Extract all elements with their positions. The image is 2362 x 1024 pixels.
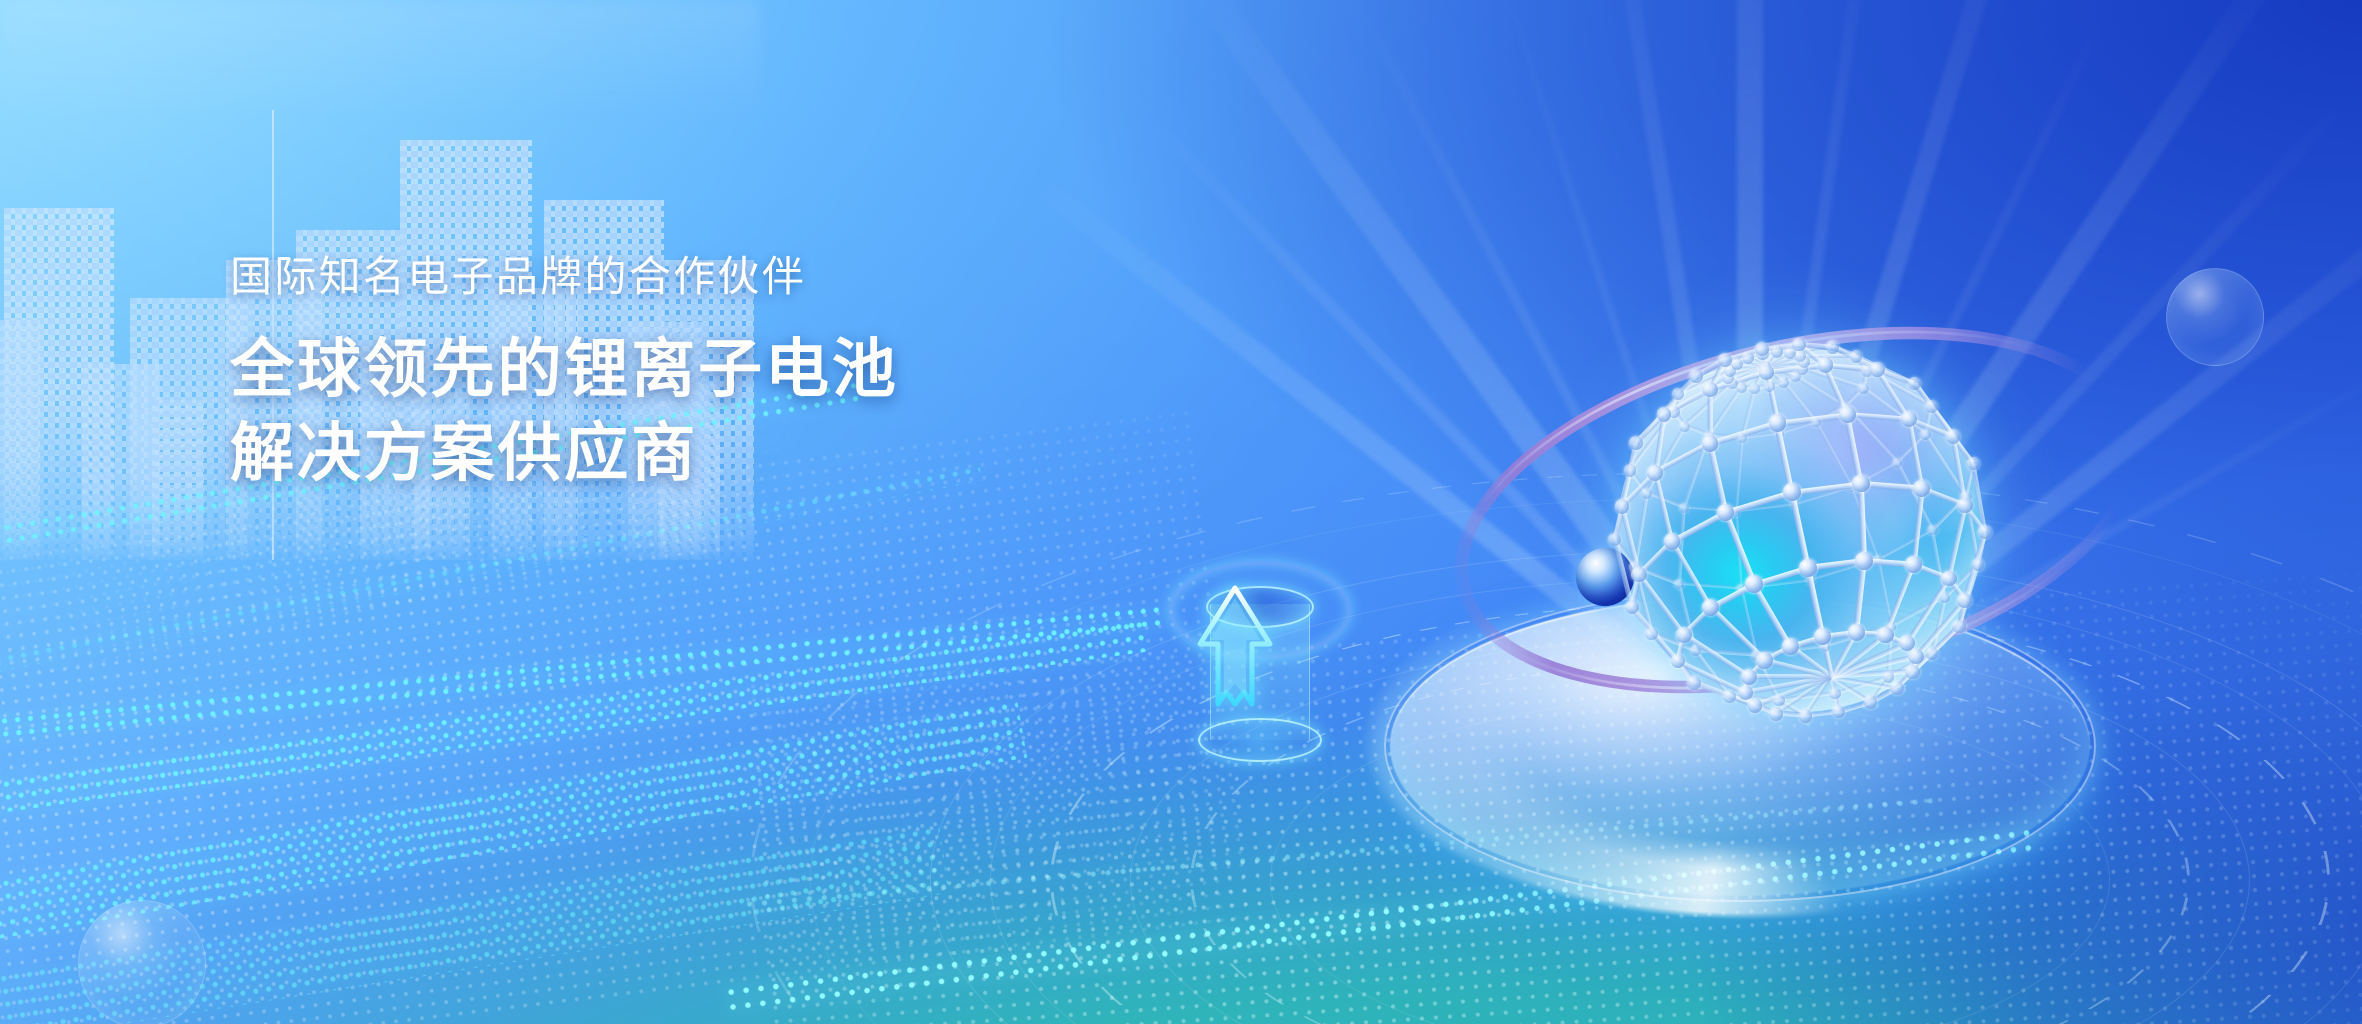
globe-strut [1890,595,1945,627]
globe-node [1840,402,1850,412]
globe-strut [1869,675,1890,702]
globe-strut [1693,681,1730,699]
globe-strut [1802,367,1864,390]
globe-strut [1800,361,1805,369]
globe-strut [1754,675,1832,708]
light-ray [1740,0,2031,743]
globe-strut [1963,504,1987,534]
globe-strut [1734,437,1743,511]
globe-strut [1855,354,1915,385]
globe-strut [1732,364,1767,385]
globe-strut [1765,360,1804,368]
globe-strut [1809,579,1826,646]
globe-strut [1725,490,1793,516]
globe-strut [1820,636,1833,677]
globe-node [1794,350,1806,362]
globe-node [1702,435,1719,452]
globe-strut [1637,540,1674,577]
globe-strut [1850,486,1880,559]
globe-node [1826,340,1839,353]
light-ray [1746,1,2114,742]
globe-node [1749,383,1760,394]
globe-node [1814,628,1831,645]
light-ray [1745,92,2355,745]
globe-node [1741,669,1757,685]
globe-strut [1677,369,1730,396]
globe-strut [1695,358,1726,378]
globe-strut [1793,503,1812,579]
globe-strut [1794,367,1804,377]
globe-strut [1825,363,1877,372]
globe-strut [1962,531,1987,600]
orbital-ring-band [1419,266,2178,755]
globe-node [1901,411,1917,427]
globe-strut [1951,435,1975,465]
globe-strut [1682,606,1713,637]
banner-headline: 全球领先的锂离子电池 解决方案供应商 [230,328,1150,494]
globe-node [1799,709,1812,722]
globe-core-sphere [1618,348,1982,712]
bubble-bottom-left [78,900,206,1024]
globe-strut [1682,633,1750,679]
globe-strut [1768,386,1781,434]
globe-strut [1943,563,1979,599]
globe-strut [1830,675,1872,704]
globe-strut [1833,693,1841,712]
globe-strut [1778,698,1807,717]
globe-strut [1613,538,1636,568]
globe-strut [1830,641,1907,679]
globe-strut [1653,414,1666,473]
globe-node [1657,407,1672,422]
globe-strut [1887,626,1893,677]
globe-node [1664,533,1681,550]
globe-strut [1765,364,1802,370]
globe-strut [1650,632,1696,684]
globe-strut [1856,630,1886,638]
globe-strut [1742,385,1755,390]
globe-strut [1729,364,1765,373]
globe-strut [1875,368,1911,421]
globe-node [1967,457,1980,470]
globe-strut [1769,380,1784,388]
globe-strut [1896,461,1934,530]
globe-strut [1747,659,1767,679]
globe-strut [1613,506,1625,540]
globe-node [1724,365,1736,377]
globe-strut [1663,388,1711,417]
globe-node [1790,371,1801,382]
globe-strut [1931,625,1961,655]
globe-strut [1679,582,1741,590]
globe-strut [1653,473,1675,543]
globe-strut [1824,624,1891,648]
globe-strut [1844,387,1865,408]
globe-node [1737,433,1747,443]
globe-strut [1763,365,1771,386]
globe-strut [1777,412,1848,426]
globe-strut [1754,703,1777,716]
portal-halo-ring [1170,562,1350,658]
globe-node [1631,567,1646,582]
globe-node [1764,381,1775,392]
globe-node [1908,377,1922,391]
globe-node [1751,650,1761,660]
headline-line-2: 解决方案供应商 [230,412,1150,495]
globe-strut [1777,349,1790,354]
globe-strut [1831,669,1913,679]
globe-strut [1946,505,1967,579]
globe-node [1672,388,1685,401]
globe-node [1674,579,1684,589]
globe-node [1717,504,1735,522]
globe-strut [1707,386,1743,436]
globe-node [1745,575,1763,593]
globe-node [1926,647,1938,659]
globe-strut [1964,496,1980,565]
globe-node [1778,377,1789,388]
portal-base-ellipse [1198,718,1322,762]
globe-strut [1798,342,1827,367]
globe-strut [1912,562,1949,581]
globe-node [1782,638,1799,655]
globe-strut [1814,421,1852,487]
globe-node [1864,695,1877,708]
globe-strut [1805,709,1839,718]
globe-strut [1804,360,1868,373]
globe-strut [1895,652,1934,690]
globe-strut [1673,376,1729,413]
globe-strut [1823,364,1850,415]
globe-node [1799,559,1817,577]
globe-strut [1753,365,1767,389]
globe-strut [1682,434,1710,507]
globe-node [1759,361,1771,373]
tech-ring [810,498,2362,1024]
globe-node [1727,378,1738,389]
globe-strut [1776,711,1806,718]
globe-strut [1729,694,1777,715]
globe-strut [1741,578,1811,590]
globe-node [1883,671,1895,683]
globe-strut [1739,588,1758,655]
globe-strut [1858,484,1867,561]
globe-strut [1695,362,1737,378]
globe-strut [1728,362,1738,372]
globe-strut [1752,583,1793,648]
globe-strut [1628,410,1676,471]
globe-strut [1778,432,1796,504]
globe-strut [1838,700,1871,714]
globe-strut [1613,470,1632,540]
globe-strut [1866,369,1932,408]
globe-strut [1725,355,1748,362]
globe-strut [1924,433,1968,497]
globe-node [1679,421,1690,432]
globe-strut [1761,342,1799,351]
globe-node [1624,464,1636,476]
globe-node [1773,695,1785,707]
light-ray [1499,0,1754,741]
globe-strut [1633,566,1654,634]
globe-strut [1634,392,1679,444]
globe-strut [1725,347,1763,362]
globe-node [1946,429,1961,444]
globe-strut [1831,654,1917,679]
globe-strut [1727,376,1734,384]
globe-node [1957,498,1972,513]
globe-strut [1764,364,1785,383]
orbital-ring [1419,266,2178,755]
globe-strut [1831,675,1897,690]
light-ray [1351,0,1754,742]
globe-node [1676,627,1692,643]
headline-line-1: 全球领先的锂离子电池 [230,328,1150,411]
portal-light-beam [1210,604,1310,740]
globe-node [1790,500,1799,509]
globe-node [1941,571,1957,587]
globe-node [1608,533,1621,546]
globe-node [1755,342,1769,356]
globe-node [1972,558,1984,570]
globe-node [1927,525,1937,535]
globe-node [1858,383,1869,394]
globe-strut [1830,633,1887,679]
globe-node [1877,627,1894,644]
globe-strut [1834,675,1889,695]
globe-strut [1790,344,1833,354]
globe-node [1671,654,1686,669]
globe-strut [1709,606,1767,663]
globe-strut [1888,651,1934,678]
globe-node [1625,600,1639,614]
globe-node [1920,429,1931,440]
globe-strut [1911,488,1925,565]
globe-node [1629,561,1641,573]
globe-strut [1779,691,1835,702]
globe-node [1718,353,1732,367]
globe-strut [1749,674,1832,679]
globe-strut [1732,381,1743,388]
globe-strut [1798,355,1805,363]
globe-strut [1765,354,1800,368]
globe-strut [1734,511,1742,588]
light-ray [1174,0,1763,749]
globe-strut [1861,370,1869,389]
globe-strut [1628,442,1638,471]
globe-node [1892,458,1902,468]
globe-strut [1764,350,1779,367]
globe-strut [1904,642,1918,658]
globe-strut [1729,694,1779,702]
globe-node [1848,624,1865,641]
globe-strut [1877,528,1933,560]
globe-node [1759,365,1775,381]
globe-strut [1896,432,1927,463]
globe-node [1769,414,1786,431]
globe-strut [1694,649,1731,697]
globe-strut [1676,374,1697,395]
globe-strut [1766,363,1825,375]
globe-strut [1754,654,1780,701]
globe-strut [1906,419,1924,489]
globe-strut [1861,481,1922,491]
light-ray [1601,0,1758,741]
globe-strut [1862,386,1926,435]
upward-arrow-portal [1196,584,1324,760]
globe-strut [1736,502,1795,512]
light-ray [1739,0,2297,747]
globe-strut [1677,507,1685,583]
globe-strut [1695,648,1756,656]
globe-strut [1676,660,1696,684]
globe-node [1756,347,1768,359]
globe-strut [1637,573,1686,636]
portal-top-ellipse [1206,586,1314,628]
globe-strut [1921,486,1966,508]
globe-strut [1914,599,1966,658]
globe-strut [1883,564,1916,636]
globe-strut [1930,597,1947,654]
globe-node [1615,499,1630,514]
globe-strut [1782,380,1817,422]
globe-node [1818,357,1833,372]
globe-strut [1759,348,1764,353]
globe-node [1798,356,1810,368]
globe-node [1687,676,1700,689]
globe-node [1731,358,1743,370]
banner-subtitle: 国际知名电子品牌的合作伙伴 [230,252,1150,302]
globe-strut [1684,382,1734,427]
globe-strut [1794,374,1846,408]
globe-node [1957,593,1972,608]
globe-strut [1831,345,1878,371]
globe-node [1702,599,1719,616]
globe-node [1647,465,1663,481]
globe-strut [1829,632,1858,679]
globe-node [1905,556,1922,573]
globe-node [1873,555,1882,564]
globe-node [1689,369,1702,382]
globe-strut [1742,431,1780,439]
orbital-ring-bead [1576,548,1634,606]
globe-strut [1904,577,1951,645]
globe-strut [1908,417,1954,439]
globe-node [1756,652,1773,669]
globe-strut [1756,644,1825,656]
globe-strut [1800,354,1857,358]
globe-node [1829,688,1841,700]
globe-strut [1671,510,1727,544]
globe-node [1960,491,1972,503]
globe-strut [1620,506,1642,575]
globe-strut [1844,405,1899,463]
globe-strut [1646,491,1685,509]
globe-strut [1670,540,1713,609]
globe-strut [1764,350,1791,367]
light-ray [1748,346,2362,744]
globe-strut [1777,342,1800,353]
globe-strut [1709,421,1778,447]
globe-strut [1931,495,1967,531]
globe-node [1742,352,1754,364]
globe-node [1839,406,1856,423]
globe-strut [1620,442,1638,507]
globe-strut [1763,645,1792,664]
light-ray [1743,165,2362,749]
globe-node [1775,429,1785,439]
light-ray [1134,103,1754,744]
globe-strut [1764,372,1780,424]
globe-node [1850,350,1863,363]
globe-strut [1672,393,1680,412]
globe-glow [1540,268,2060,788]
globe-strut [1790,350,1801,357]
globe-strut [1876,367,1915,386]
globe-node [1861,365,1873,377]
globe-strut [1654,441,1711,475]
globe-node [1668,406,1680,418]
globe-node [1952,620,1965,633]
globe-node [1905,665,1920,680]
globe-strut [1930,405,1975,465]
globe-node [1852,475,1870,493]
globe-strut [1815,404,1846,423]
bubble-top-right [2166,268,2264,366]
globe-strut [1913,382,1933,407]
globe-strut [1684,424,1709,437]
globe-strut [1645,425,1687,494]
globe-strut [1726,370,1731,378]
globe-strut [1971,463,1987,532]
globe-node [1870,362,1885,377]
globe-strut [1832,345,1857,358]
globe-strut [1779,420,1816,434]
globe-node [1806,576,1815,585]
globe-node [1723,690,1735,702]
city-skyline-reflection [0,0,760,120]
globe-strut [1759,348,1769,372]
globe-strut [1794,485,1852,505]
globe-strut [1884,633,1907,646]
globe-strut [1910,656,1918,673]
globe-strut [1709,582,1755,610]
globe-strut [1808,558,1865,571]
globe-node [1629,436,1643,450]
globe-node [1899,635,1915,651]
globe-node [1736,382,1747,393]
globe-node [1908,649,1923,664]
globe-node [1886,622,1896,632]
globe-strut [1947,577,1967,602]
globe-strut [1911,625,1961,674]
globe-node [1690,645,1701,656]
globe-node [1679,503,1689,513]
globe-strut [1844,414,1863,484]
globe-strut [1693,681,1755,708]
globe-strut [1760,353,1767,367]
globe-strut [1723,512,1757,586]
globe-node [1811,418,1821,428]
globe-strut [1709,370,1767,392]
light-ray [1737,0,1763,740]
globe-strut [1822,630,1856,640]
globe-node [1722,372,1734,384]
globe-strut [1870,686,1898,704]
globe-strut [1740,364,1766,388]
globe-node [1738,685,1753,700]
globe-strut [1753,565,1809,587]
